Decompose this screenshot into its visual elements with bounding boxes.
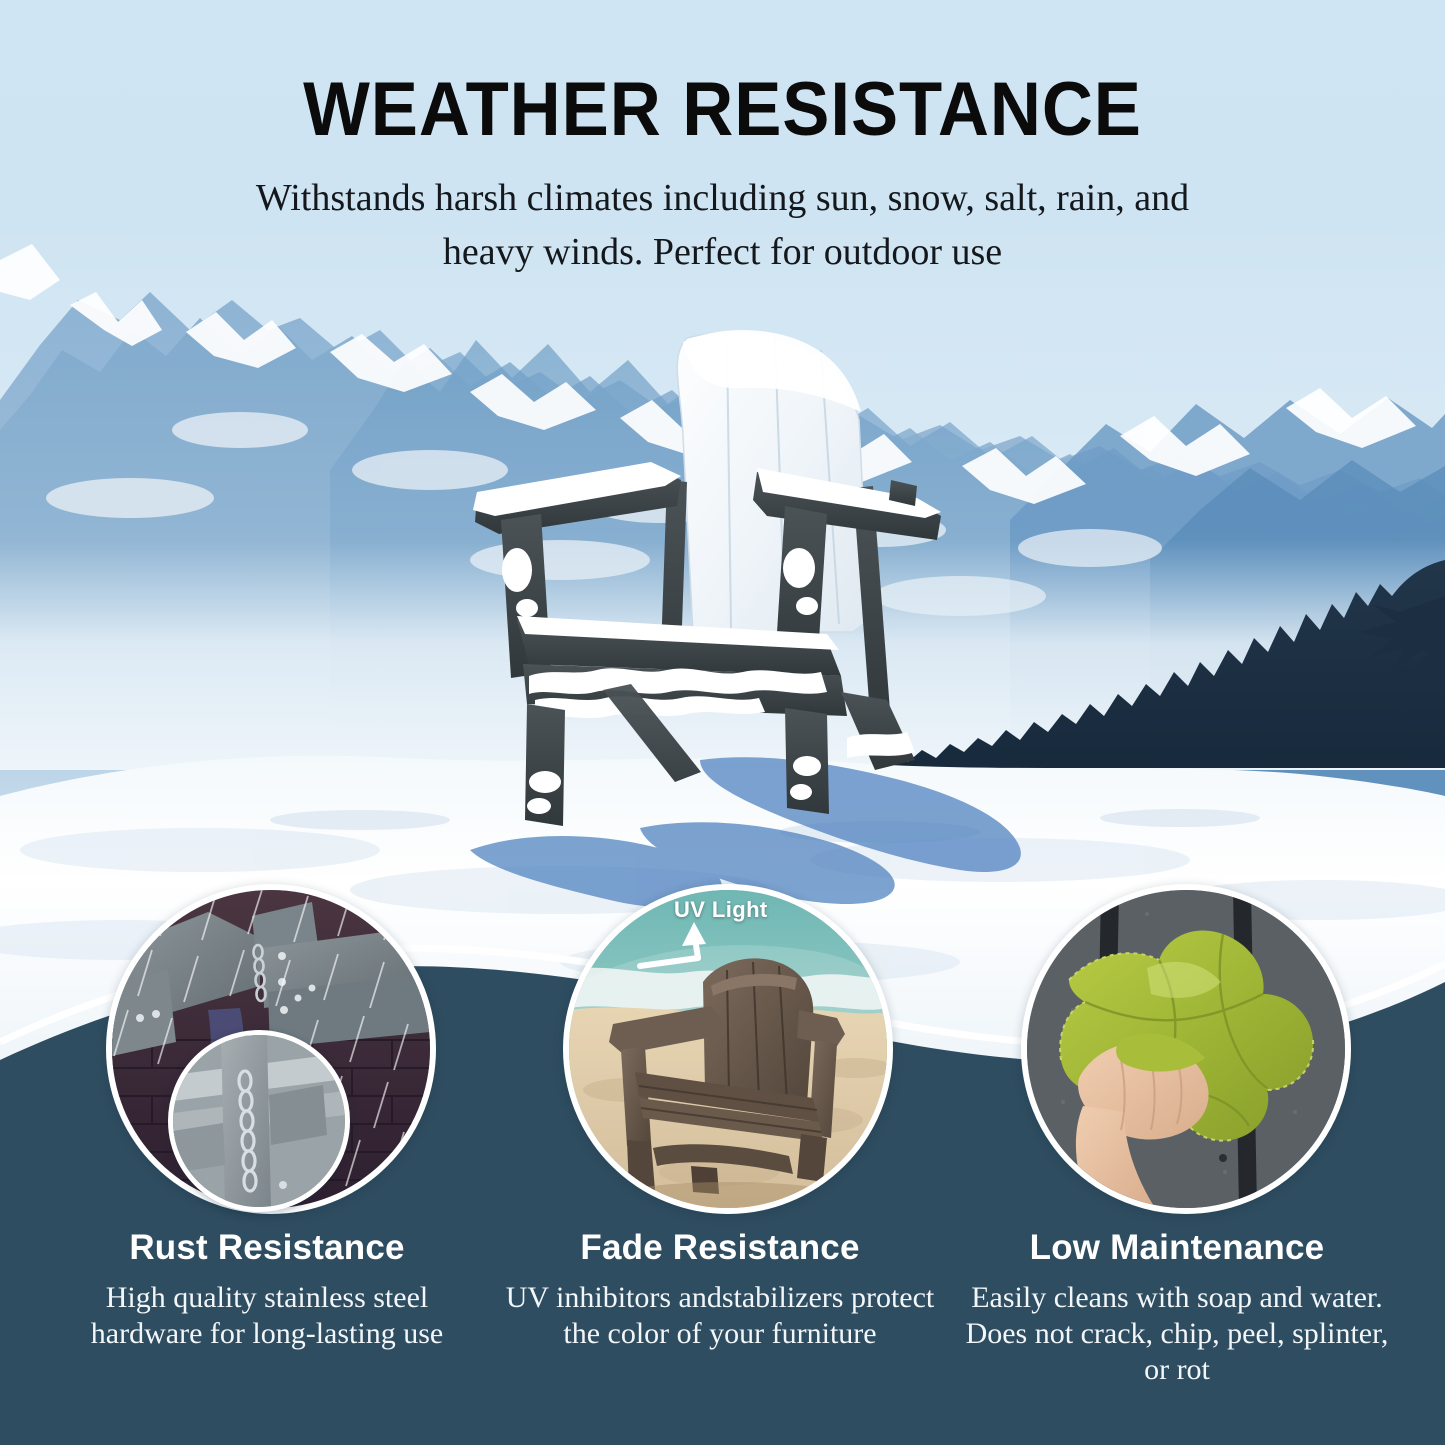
feature-description-fade-resistance: UV inhibitors andstabilizers protect the…: [505, 1280, 935, 1352]
page-title: WEATHER RESISTANCE: [51, 72, 1395, 148]
weather-resistance-infographic: UV Light: [0, 0, 1445, 1445]
feature-text-low-maintenance: Low Maintenance Easily cleans with soap …: [962, 1228, 1392, 1388]
hero-snow-covered-adirondack-chair: [455, 320, 975, 850]
feature-description-rust-resistance: High quality stainless steel hardware fo…: [52, 1280, 482, 1352]
uv-light-label: UV Light: [674, 897, 768, 923]
uv-light-arrow-icon: [632, 918, 752, 998]
page-subtitle: Withstands harsh climates including sun,…: [243, 172, 1203, 280]
feature-title-rust-resistance: Rust Resistance: [52, 1228, 482, 1268]
feature-title-low-maintenance: Low Maintenance: [962, 1228, 1392, 1268]
feature-text-rust-resistance: Rust Resistance High quality stainless s…: [52, 1228, 482, 1352]
feature-text-fade-resistance: Fade Resistance UV inhibitors andstabili…: [505, 1228, 935, 1352]
feature-title-fade-resistance: Fade Resistance: [505, 1228, 935, 1268]
feature-image-low-maintenance: [1021, 884, 1351, 1214]
feature-inset-chain-hardware-detail: [168, 1030, 350, 1212]
feature-description-low-maintenance: Easily cleans with soap and water. Does …: [962, 1280, 1392, 1388]
